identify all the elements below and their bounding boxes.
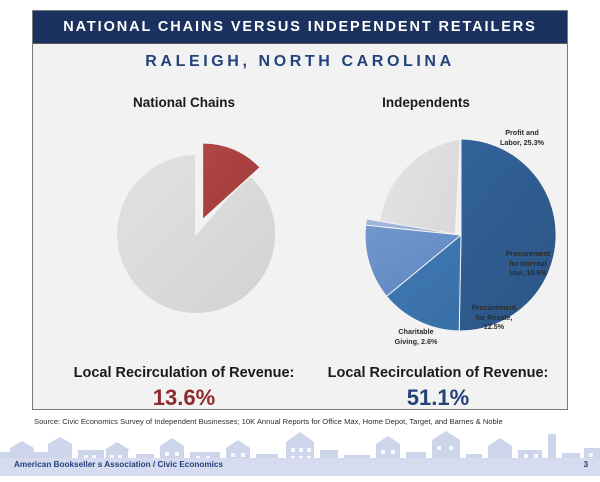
pie-slice-chains-outflow	[116, 154, 276, 314]
slide-title-bar: NATIONAL CHAINS VERSUS INDEPENDENT RETAI…	[33, 11, 567, 44]
slide-subtitle: RALEIGH, NORTH CAROLINA	[33, 53, 567, 71]
chart-heading-national-chains: National Chains	[69, 95, 299, 110]
pie-label-resale: Procurement for Resale, 12.5%	[466, 303, 522, 332]
result-independents: Local Recirculation of Revenue: 51.1%	[323, 365, 553, 411]
slide-canvas: NATIONAL CHAINS VERSUS INDEPENDENT RETAI…	[0, 0, 600, 482]
result-label-left: Local Recirculation of Revenue:	[69, 365, 299, 381]
source-note: Source: Civic Economics Survey of Indepe…	[34, 417, 574, 426]
result-national-chains: Local Recirculation of Revenue: 13.6%	[69, 365, 299, 411]
page-number: 3	[583, 460, 588, 469]
result-value-left: 13.6%	[69, 385, 299, 411]
pie-chart-national-chains	[84, 121, 314, 349]
pie-svg-national-chains	[84, 121, 314, 349]
pie-label-charitable-giving: Charitable Giving, 2.6%	[389, 327, 443, 346]
content-panel: NATIONAL CHAINS VERSUS INDEPENDENT RETAI…	[32, 10, 568, 410]
result-label-right: Local Recirculation of Revenue:	[323, 365, 553, 381]
pie-label-profit-labor: Profit and Labor, 25.3%	[492, 128, 552, 147]
result-value-right: 51.1%	[323, 385, 553, 411]
pie-svg-independents	[329, 121, 559, 349]
pie-chart-independents	[329, 121, 559, 349]
footer-attribution: American Bookseller s Association / Civi…	[14, 460, 223, 469]
chart-heading-independents: Independents	[321, 95, 531, 110]
page-title: NATIONAL CHAINS VERSUS INDEPENDENT RETAI…	[63, 19, 537, 35]
pie-label-internal-use: Procurement for Internal Use, 10.6%	[500, 249, 556, 278]
